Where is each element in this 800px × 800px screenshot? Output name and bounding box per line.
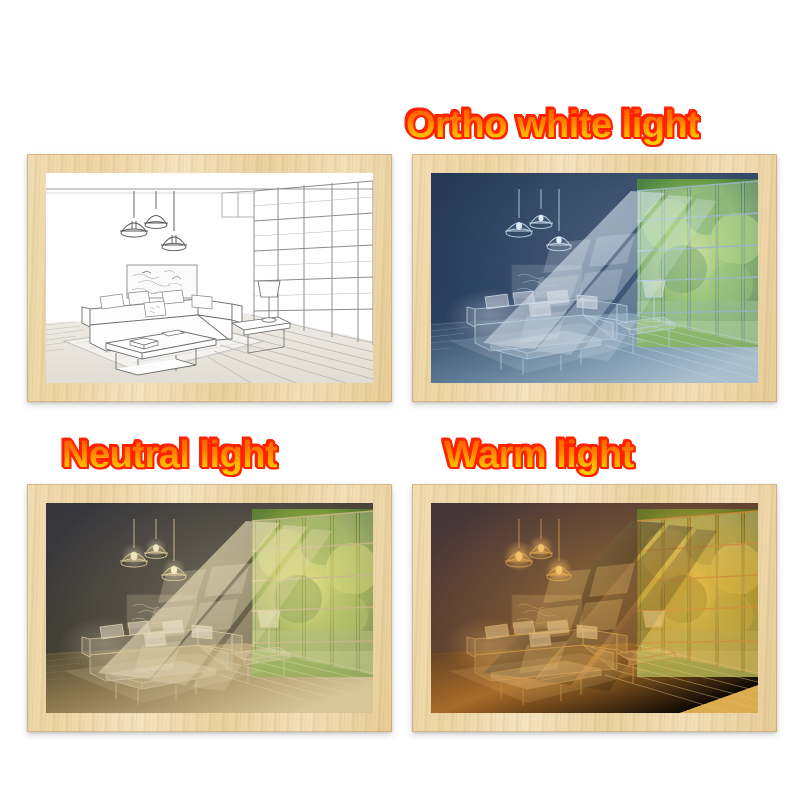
- frame-panel-ortho-white: [412, 154, 777, 402]
- frame-artwork-area: [46, 173, 373, 383]
- product-image-board: Ortho white light Neutral light Warm lig…: [0, 0, 800, 800]
- frame-artwork-area: [431, 173, 758, 383]
- scene-neutral: [46, 503, 373, 713]
- caption-ortho-white-light: Ortho white light: [406, 104, 699, 147]
- frame-artwork-area: [431, 503, 758, 713]
- frame-panel-neutral: [27, 484, 392, 732]
- caption-neutral-light: Neutral light: [62, 434, 277, 477]
- frame-panel-warm: [412, 484, 777, 732]
- frame-artwork-area: [46, 503, 373, 713]
- scene-warm: [431, 503, 758, 713]
- scene-ortho-white: [431, 173, 758, 383]
- scene-off: [46, 173, 373, 383]
- frame-panel-off: [27, 154, 392, 402]
- caption-warm-light: Warm light: [444, 434, 634, 477]
